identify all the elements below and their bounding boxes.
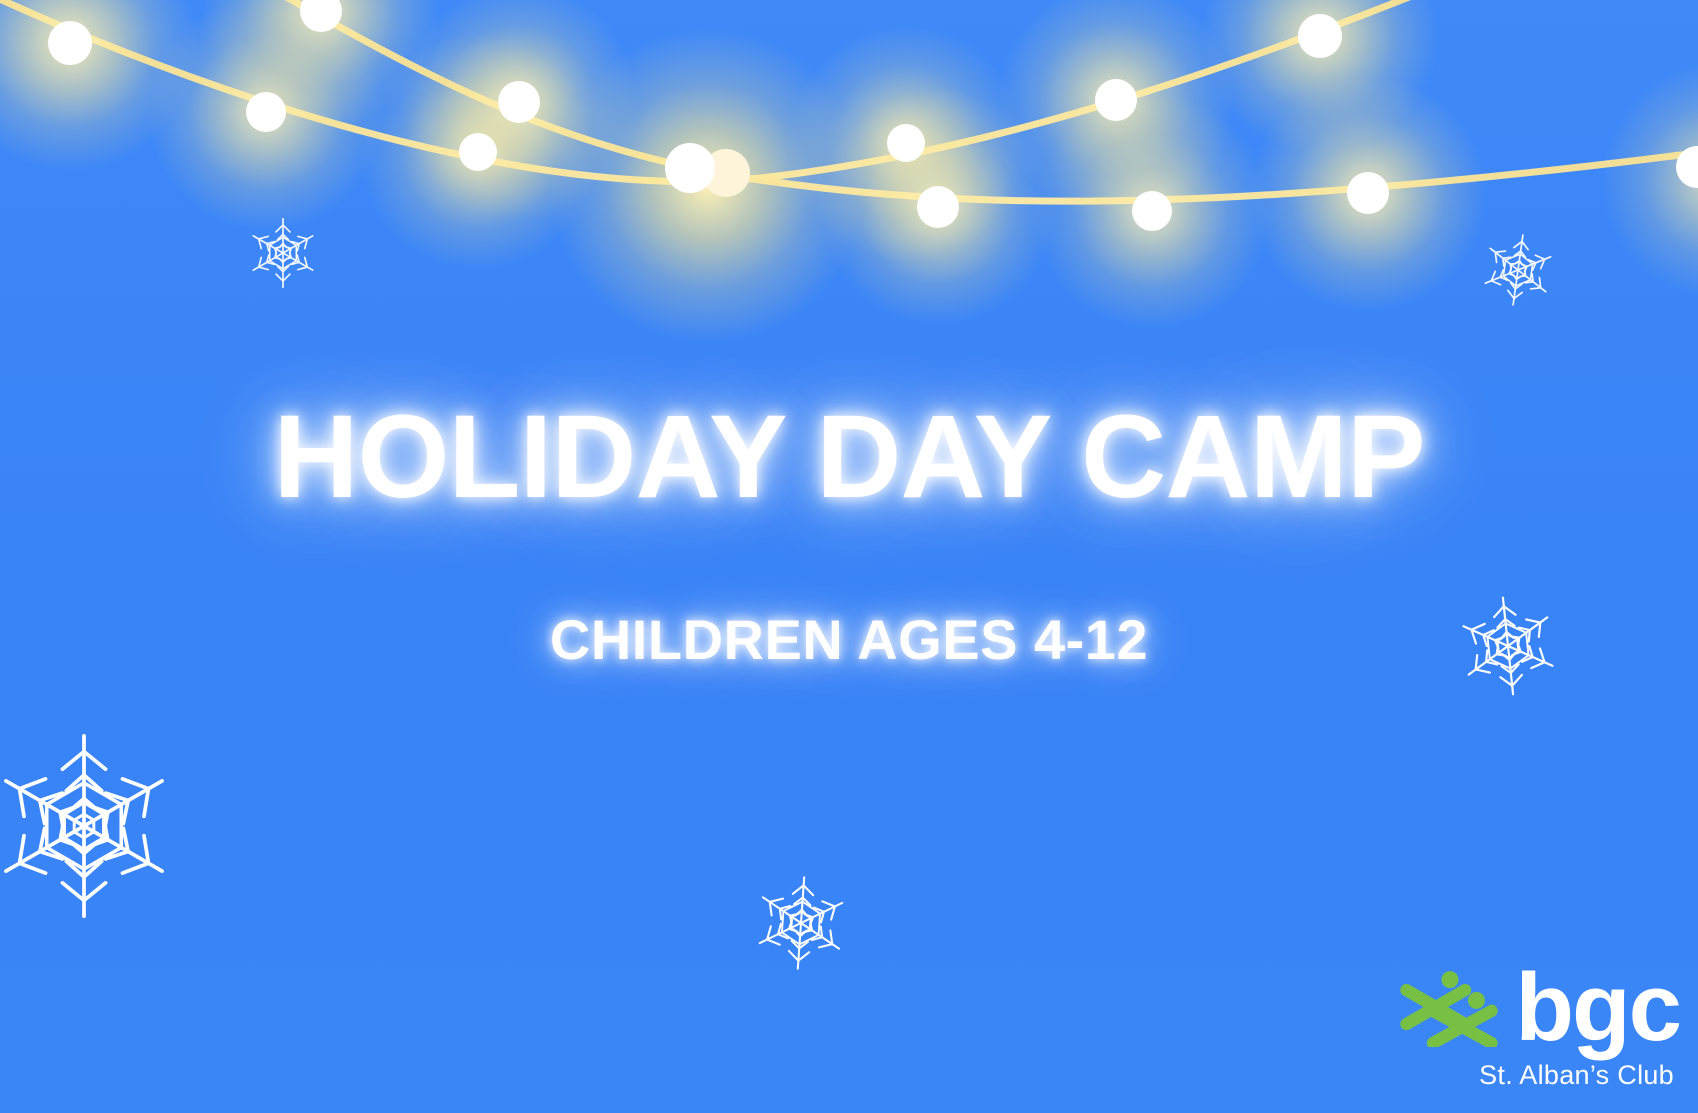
light-bulb [246,92,286,132]
string-lights-decoration [0,0,1698,270]
bgc-logo: bgc St. Alban’s Club [1260,960,1680,1091]
light-bulb [1347,172,1389,214]
bulb-glow [201,0,441,131]
string-light-wires [0,0,1698,270]
bulb-glow [786,23,1026,263]
snowflake-top-right-icon [1473,225,1563,315]
bulb-glow [818,87,1058,327]
light-bulb [1132,191,1172,231]
light-bulb [48,21,92,65]
bulb-glow [1248,73,1488,313]
light-bulb [665,143,715,193]
bulb-glow [1032,91,1272,331]
light-wire-strand-a [0,0,1500,182]
holiday-day-camp-poster: HOLIDAY DAY CAMP CHILDREN AGES 4-12 bgc … [0,0,1698,1113]
bgc-wordmark: bgc [1515,969,1680,1048]
bgc-people-mark-icon [1397,969,1501,1047]
bulb-glow [0,0,200,173]
bulb-glow [399,0,639,222]
club-name: St. Alban’s Club [1260,1060,1680,1091]
light-bulb [1676,146,1698,188]
light-bulb [1298,14,1342,58]
light-bulb [887,124,925,162]
light-bulb [702,149,750,197]
light-bulb [498,81,540,123]
bulb-glow [1200,0,1440,156]
light-bulb [1095,79,1137,121]
snowflake-bottom-left-icon [0,728,182,924]
snowflake-bottom-center-icon [747,869,856,978]
page-subtitle: CHILDREN AGES 4-12 [0,612,1698,668]
bulb-glow [146,0,386,232]
bulb-glow [996,0,1236,220]
page-title: HOLIDAY DAY CAMP [0,398,1698,516]
light-wire-strand-b [250,0,1698,201]
bulb-glow [548,26,868,346]
light-bulb [300,0,342,32]
light-bulb [459,133,497,171]
logo-row: bgc [1260,960,1680,1056]
bulb-glow [1600,60,1698,300]
snowflake-top-left-icon [244,214,322,292]
light-bulb [917,186,959,228]
bulb-glow [358,32,598,272]
